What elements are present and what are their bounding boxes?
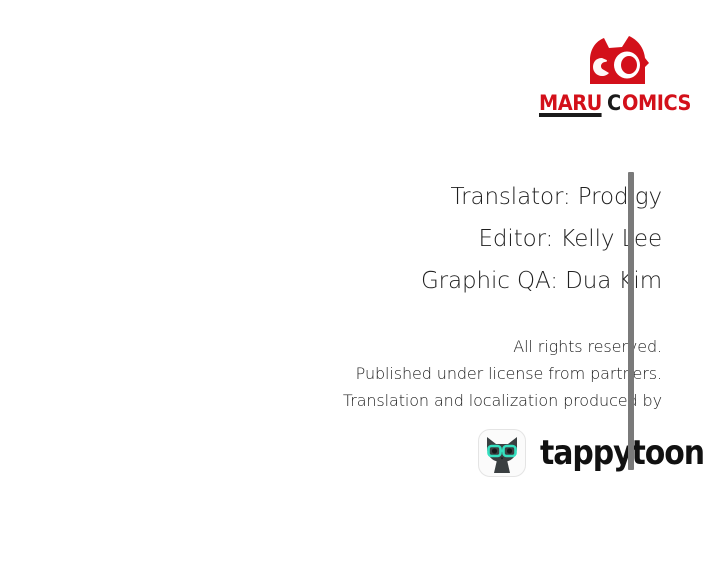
tappytoon-wordmark: tappytoon [540, 436, 704, 470]
credit-line-graphic-qa: Graphic QA: Dua Kim [40, 260, 662, 302]
publisher-logo: MARU C OMICS [552, 34, 684, 118]
wordmark-maru: MARU [539, 93, 602, 114]
comic-credits-page: MARU C OMICS Translator: Prodigy Editor:… [0, 0, 720, 579]
owl-head-icon [582, 34, 654, 84]
credit-line-editor: Editor: Kelly Lee [40, 218, 662, 260]
legal-line-rights: All rights reserved. [40, 333, 662, 360]
tappytoon-logo: tappytoon [478, 427, 720, 479]
vertical-scrollbar-thumb[interactable] [628, 172, 634, 470]
wordmark-c: C [607, 93, 621, 114]
legal-line-localization: Translation and localization produced by [40, 387, 662, 414]
legal-line-license: Published under license from partners. [40, 360, 662, 387]
credit-line-translator: Translator: Prodigy [40, 176, 662, 218]
vertical-scrollbar-track[interactable] [671, 0, 677, 579]
legal-block: All rights reserved. Published under lic… [40, 333, 662, 414]
cat-with-glasses-icon [478, 429, 526, 477]
credits-block: Translator: Prodigy Editor: Kelly Lee Gr… [40, 176, 662, 302]
wordmark-omics: OMICS [622, 93, 691, 114]
publisher-wordmark: MARU C OMICS [552, 84, 684, 114]
